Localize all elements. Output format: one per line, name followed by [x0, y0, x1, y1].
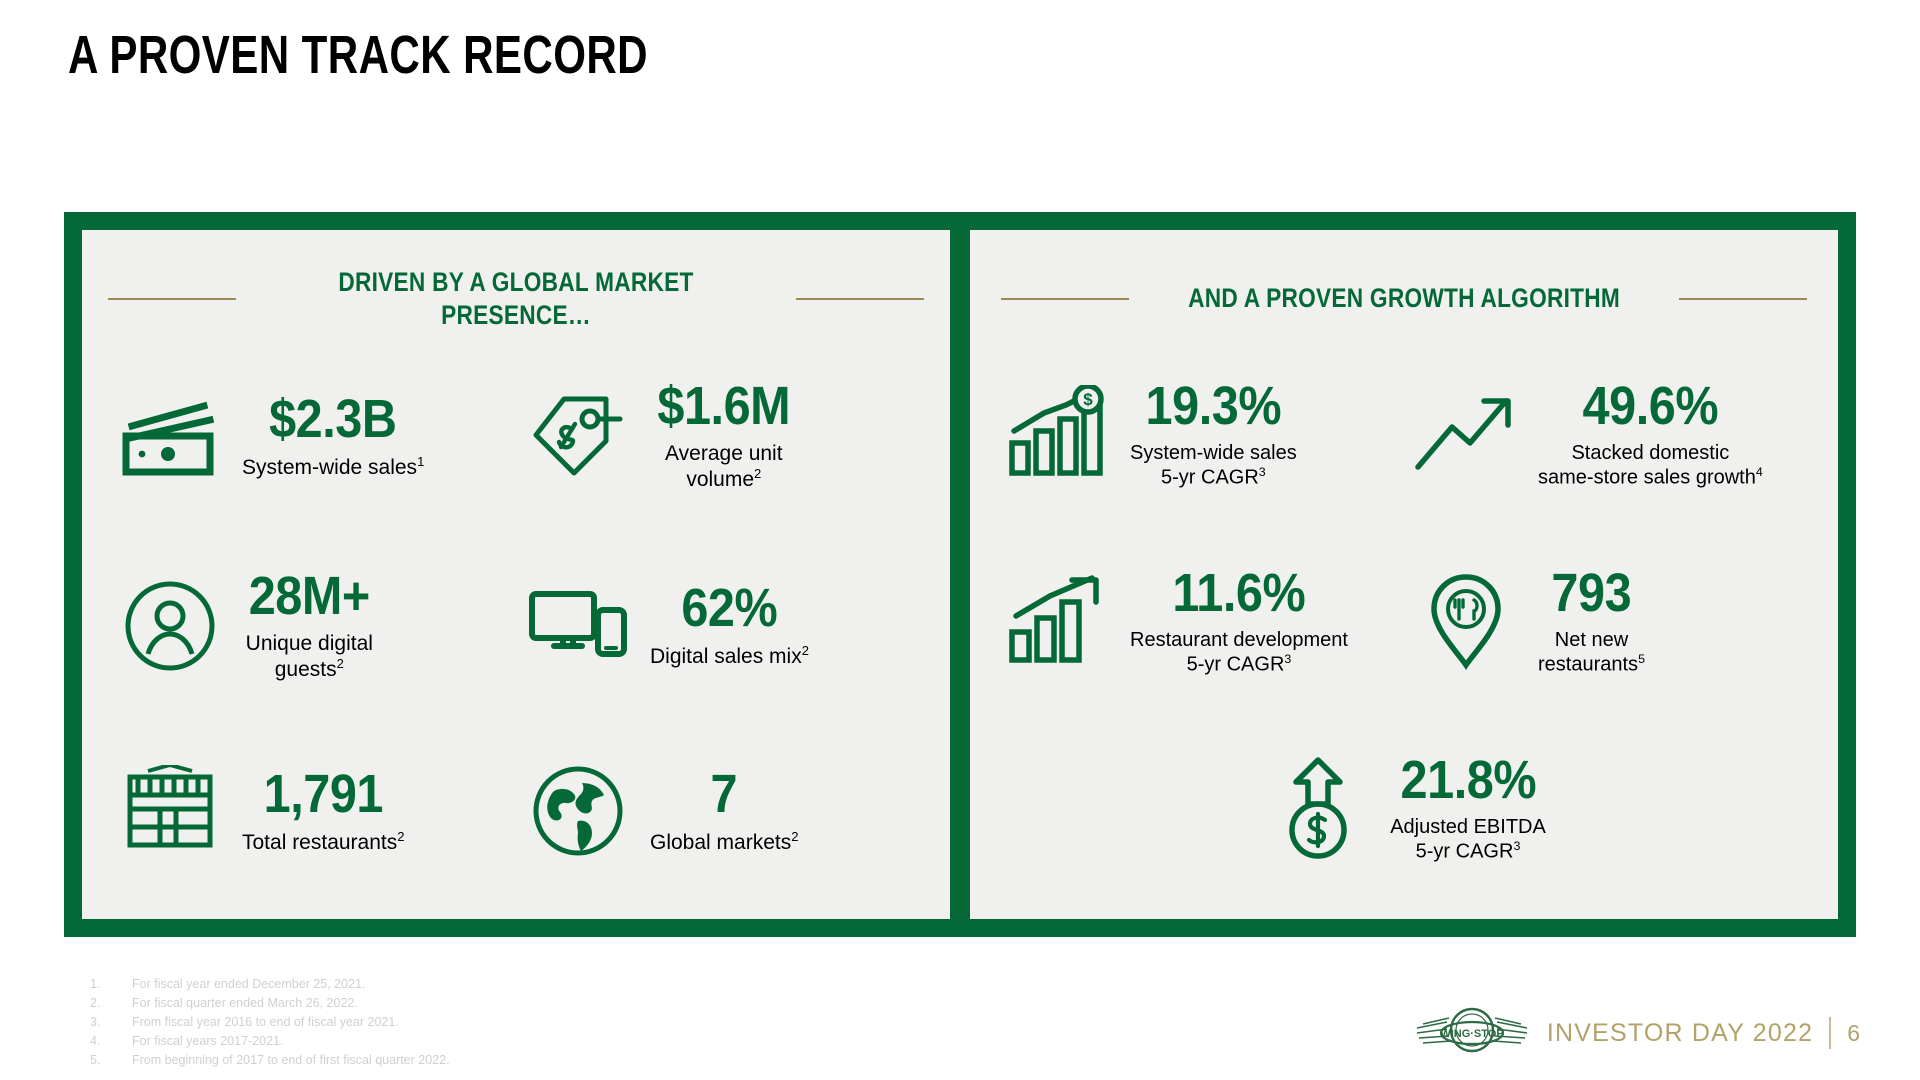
header-rule-right	[796, 298, 924, 300]
stat-net-new-restaurants: 793 Net new restaurants5	[1404, 562, 1812, 682]
footnote-number: 5.	[90, 1051, 132, 1070]
stat-label: Stacked domestic same-store sales growth…	[1538, 441, 1763, 490]
stat-label: Net new restaurants5	[1538, 628, 1645, 677]
stat-label: Total restaurants2	[242, 829, 405, 856]
footnote-number: 1.	[90, 975, 132, 994]
stat-body: 28M+ Unique digital guests2	[242, 569, 377, 683]
stat-value: 7	[711, 767, 738, 822]
stat-unique-digital-guests: 28M+ Unique digital guests2	[108, 565, 516, 687]
stat-body: 19.3% System-wide sales 5-yr CAGR3	[1130, 379, 1297, 491]
footnote-number: 2.	[90, 994, 132, 1013]
panel-divider	[950, 230, 970, 919]
stat-stacked-domestic-ssg: 49.6% Stacked domestic same-store sales …	[1404, 375, 1812, 495]
stat-system-wide-sales-cagr: $ 19.3% System-wide sales 5-yr CAGR3	[996, 375, 1404, 495]
stat-label: System-wide sales 5-yr CAGR3	[1130, 441, 1297, 490]
stat-body: 62% Digital sales mix2	[650, 581, 809, 670]
stat-label: Restaurant development 5-yr CAGR3	[1130, 628, 1348, 677]
stat-body: 793 Net new restaurants5	[1538, 566, 1645, 678]
footnote-item: 3. From fiscal year 2016 to end of fisca…	[90, 1013, 450, 1032]
right-panel: AND A PROVEN GROWTH ALGORITHM	[970, 230, 1838, 919]
stat-body: 11.6% Restaurant development 5-yr CAGR3	[1130, 566, 1348, 678]
stat-adjusted-ebitda-cagr: 21.8% Adjusted EBITDA 5-yr CAGR3	[996, 749, 1812, 869]
storefront-icon	[114, 758, 226, 864]
stat-restaurant-development-cagr: 11.6% Restaurant development 5-yr CAGR3	[996, 562, 1404, 682]
footnote-text: From fiscal year 2016 to end of fiscal y…	[132, 1013, 399, 1032]
stat-label: Unique digital guests2	[246, 631, 373, 683]
left-panel-header: DRIVEN BY A GLOBAL MARKET PRESENCE…	[108, 262, 924, 336]
footnote-text: For fiscal years 2017-2021.	[132, 1032, 283, 1051]
stat-label: Average unit volume2	[665, 441, 783, 493]
stat-value: 21.8%	[1400, 753, 1536, 808]
stat-body: 1,791 Total restaurants2	[242, 767, 405, 856]
svg-text:WING·STOP: WING·STOP	[1440, 1028, 1503, 1040]
header-rule-right	[1679, 298, 1807, 300]
header-rule-left	[108, 298, 236, 300]
right-panel-header-text: AND A PROVEN GROWTH ALGORITHM	[1188, 282, 1620, 315]
page-number: 6	[1847, 1020, 1860, 1047]
stat-value: $2.3B	[269, 392, 396, 447]
footnotes-list: 1. For fiscal year ended December 25, 20…	[90, 975, 450, 1070]
stat-label: Digital sales mix2	[650, 643, 809, 670]
footnote-text: For fiscal quarter ended March 26, 2022.	[132, 994, 358, 1013]
svg-text:$: $	[1083, 390, 1093, 409]
price-tag-dollar-icon	[522, 383, 634, 489]
stat-body: $2.3B System-wide sales1	[242, 392, 424, 481]
globe-icon	[522, 758, 634, 864]
stat-global-markets: 7 Global markets2	[516, 754, 924, 868]
cash-bills-icon	[114, 383, 226, 489]
slide-root: A PROVEN TRACK RECORD DRIVEN BY A GLOBAL…	[0, 0, 1920, 1080]
stat-average-unit-volume: $1.6M Average unit volume2	[516, 375, 924, 497]
stat-body: $1.6M Average unit volume2	[650, 379, 798, 493]
page-title: A PROVEN TRACK RECORD	[68, 24, 648, 86]
location-pin-utensils-icon	[1410, 568, 1522, 674]
footnote-item: 5. From beginning of 2017 to end of firs…	[90, 1051, 450, 1070]
stat-digital-sales-mix: 62% Digital sales mix2	[516, 565, 924, 687]
bar-chart-dollar-icon: $	[1002, 381, 1114, 487]
devices-digital-icon	[522, 573, 634, 679]
slide-footer: WING·STOP INVESTOR DAY 2022 6	[1413, 1004, 1860, 1062]
footnote-number: 3.	[90, 1013, 132, 1032]
footer-event-label: INVESTOR DAY 2022	[1547, 1019, 1813, 1048]
footnote-text: For fiscal year ended December 25, 2021.	[132, 975, 365, 994]
footnote-item: 2. For fiscal quarter ended March 26, 20…	[90, 994, 450, 1013]
panels-frame: DRIVEN BY A GLOBAL MARKET PRESENCE…	[64, 212, 1856, 937]
stat-label: System-wide sales1	[242, 454, 424, 481]
stat-value: 19.3%	[1146, 379, 1282, 434]
stat-body: 49.6% Stacked domestic same-store sales …	[1538, 379, 1763, 491]
stat-label: Global markets2	[650, 829, 798, 856]
dollar-coin-arrow-up-icon	[1262, 755, 1374, 861]
left-stat-grid: $2.3B System-wide sales1	[108, 344, 924, 899]
footnote-item: 1. For fiscal year ended December 25, 20…	[90, 975, 450, 994]
footnote-item: 4. For fiscal years 2017-2021.	[90, 1032, 450, 1051]
wingstop-logo-icon: WING·STOP	[1413, 1004, 1531, 1062]
footnote-text: From beginning of 2017 to end of first f…	[132, 1051, 450, 1070]
stat-value: 28M+	[249, 569, 370, 624]
stat-body: 7 Global markets2	[650, 767, 798, 856]
stat-value: 62%	[682, 581, 778, 636]
stat-value: 49.6%	[1583, 379, 1719, 434]
header-rule-left	[1001, 298, 1129, 300]
stat-value: 11.6%	[1173, 566, 1306, 621]
left-panel-header-text: DRIVEN BY A GLOBAL MARKET PRESENCE…	[296, 266, 736, 333]
user-profile-icon	[114, 573, 226, 679]
stat-total-restaurants: 1,791 Total restaurants2	[108, 754, 516, 868]
right-panel-header: AND A PROVEN GROWTH ALGORITHM	[996, 262, 1812, 336]
stat-label: Adjusted EBITDA 5-yr CAGR3	[1390, 815, 1546, 864]
left-panel: DRIVEN BY A GLOBAL MARKET PRESENCE…	[82, 230, 950, 919]
stat-value: $1.6M	[657, 379, 790, 434]
footer-separator	[1829, 1017, 1831, 1049]
stat-system-wide-sales: $2.3B System-wide sales1	[108, 375, 516, 497]
right-stat-grid: $ 19.3% System-wide sales 5-yr CAGR3	[996, 344, 1812, 899]
footnote-number: 4.	[90, 1032, 132, 1051]
stat-body: 21.8% Adjusted EBITDA 5-yr CAGR3	[1390, 753, 1546, 865]
trend-arrow-up-icon	[1410, 381, 1522, 487]
bar-chart-growth-icon	[1002, 568, 1114, 674]
stat-value: 793	[1552, 566, 1632, 621]
stat-value: 1,791	[264, 767, 383, 822]
